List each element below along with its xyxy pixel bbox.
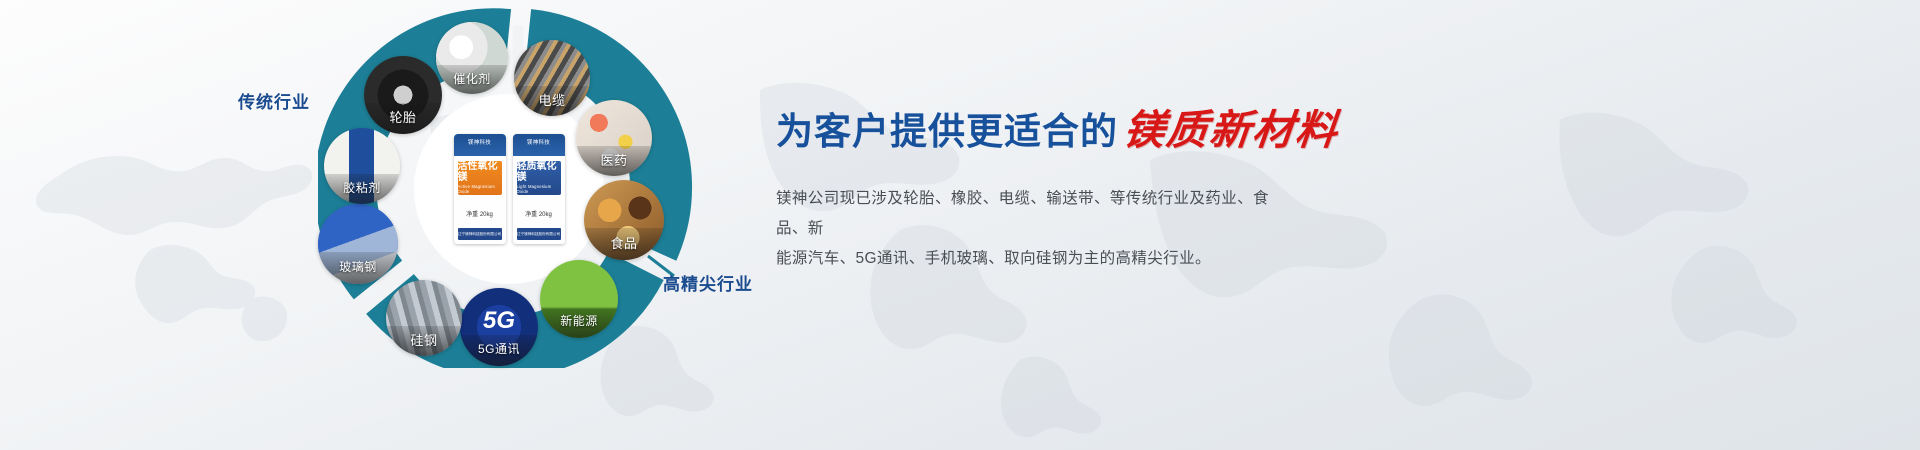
industry-node-frp[interactable]: 玻璃钢: [318, 204, 398, 284]
category-label-high-tech: 高精尖行业: [663, 270, 753, 295]
bag-weight-right: 净重 20kg: [513, 209, 565, 218]
industry-node-label: 催化剂: [436, 65, 508, 94]
industry-node-label: 玻璃钢: [318, 252, 398, 284]
copy-block: 为客户提供更适合的 镁质新材料 镁神公司现已涉及轮胎、橡胶、电缆、输送带、等传统…: [776, 96, 1476, 274]
description-line-2: 能源汽车、5G通讯、手机玻璃、取向硅钢为主的高精尖行业。: [776, 244, 1276, 274]
bag-weight-left: 净重 20kg: [454, 209, 506, 218]
headline-red-text: 镁质新材料: [1121, 96, 1342, 156]
industry-node-label: 5G通讯: [460, 335, 538, 366]
industry-node-label: 硅钢: [386, 326, 462, 356]
hero-banner: 镁神科技 活性氧化镁 Active Magnesium Oxide 净重 20k…: [0, 0, 1920, 450]
industry-node-label: 新能源: [540, 307, 618, 338]
product-bag-left: 镁神科技 活性氧化镁 Active Magnesium Oxide 净重 20k…: [454, 134, 506, 244]
bag-name-en-left: Active Magnesium Oxide: [458, 185, 502, 194]
industry-node-tire[interactable]: 轮胎: [364, 56, 442, 134]
industry-node-label: 胶粘剂: [324, 174, 400, 204]
bag-name-cn-left: 活性氧化镁: [458, 162, 502, 183]
industry-node-catalyst[interactable]: 催化剂: [436, 22, 508, 94]
bag-brand-left: 镁神科技: [454, 138, 506, 146]
industry-node-food[interactable]: 食品: [584, 180, 664, 260]
category-label-traditional: 传统行业: [238, 88, 310, 113]
product-core-disc: 镁神科技 活性氧化镁 Active Magnesium Oxide 净重 20k…: [416, 96, 602, 282]
industry-node-fiveg[interactable]: 5G5G通讯: [460, 288, 538, 366]
bag-brand-right: 镁神科技: [513, 138, 565, 146]
bag-company-right: 辽宁镁神科技股份有限公司: [517, 228, 561, 240]
bag-company-left: 辽宁镁神科技股份有限公司: [458, 228, 502, 240]
industry-node-newenergy[interactable]: 新能源: [540, 260, 618, 338]
product-bag-right: 镁神科技 轻质氧化镁 Light Magnesium Oxide 净重 20kg…: [513, 134, 565, 244]
industry-node-medicine[interactable]: 医药: [576, 100, 652, 176]
headline: 为客户提供更适合的 镁质新材料: [776, 96, 1476, 156]
industry-node-adhesive[interactable]: 胶粘剂: [324, 128, 400, 204]
headline-blue-text: 为客户提供更适合的: [776, 101, 1118, 155]
industry-node-silicon[interactable]: 硅钢: [386, 280, 462, 356]
industry-node-label: 医药: [576, 146, 652, 176]
description-paragraph: 镁神公司现已涉及轮胎、橡胶、电缆、输送带、等传统行业及药业、食品、新 能源汽车、…: [776, 184, 1276, 274]
industry-ring-diagram: 镁神科技 活性氧化镁 Active Magnesium Oxide 净重 20k…: [318, 8, 738, 368]
description-line-1: 镁神公司现已涉及轮胎、橡胶、电缆、输送带、等传统行业及药业、食品、新: [776, 184, 1276, 244]
bag-name-en-right: Light Magnesium Oxide: [517, 185, 561, 194]
industry-node-label: 食品: [584, 228, 664, 260]
bag-name-cn-right: 轻质氧化镁: [517, 162, 561, 183]
